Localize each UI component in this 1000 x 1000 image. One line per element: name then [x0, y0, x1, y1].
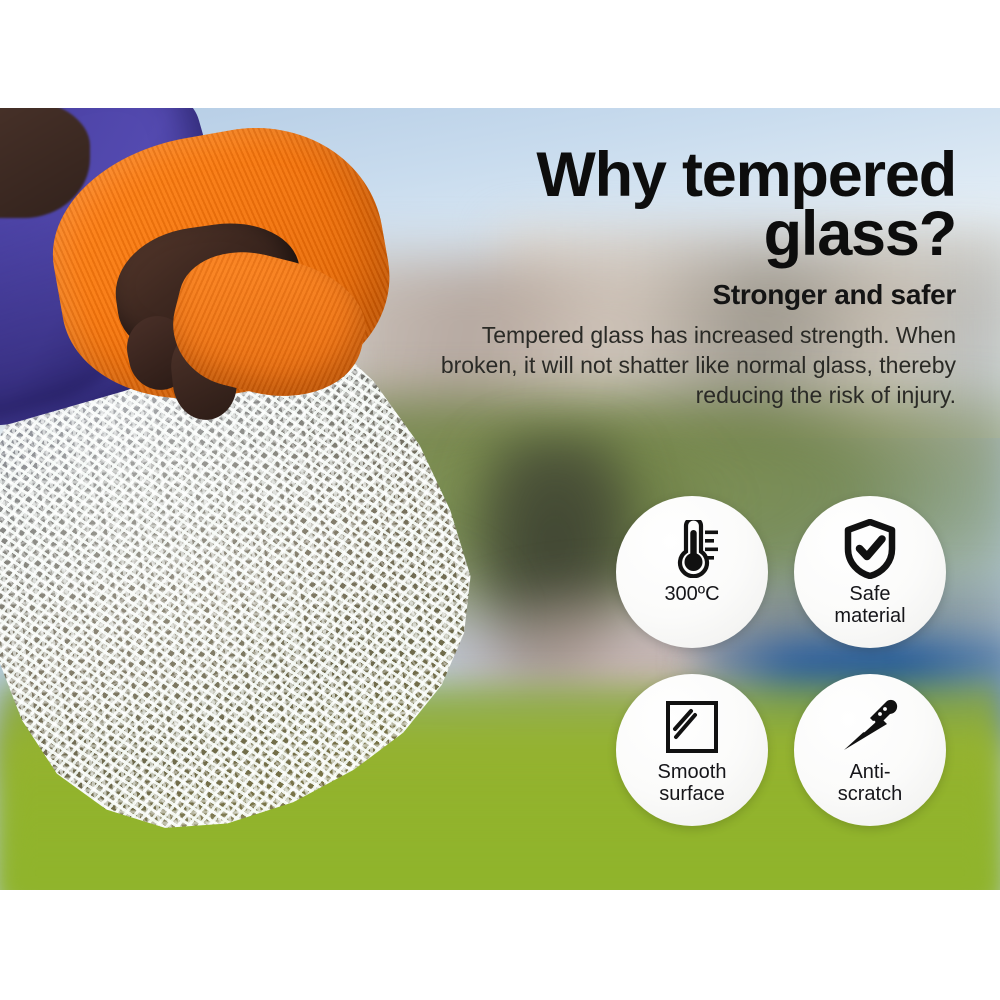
- badge-temperature-label: 300ºC: [664, 584, 719, 606]
- subheadline: Stronger and safer: [436, 279, 956, 311]
- shield-check-icon: [842, 518, 898, 580]
- headline-line-2: glass?: [764, 199, 956, 269]
- badge-anti-scratch: Anti- scratch: [794, 674, 946, 826]
- product-infographic: Why tempered glass? Stronger and safer T…: [0, 0, 1000, 1000]
- badge-safe-material-label: Safe material: [834, 584, 905, 627]
- badge-anti-scratch-label: Anti- scratch: [838, 762, 902, 805]
- badge-temperature: 300ºC: [616, 496, 768, 648]
- smooth-pane-icon: [664, 696, 720, 758]
- badge-smooth-surface-label: Smooth surface: [658, 762, 727, 805]
- badge-safe-material: Safe material: [794, 496, 946, 648]
- page-title: Why tempered glass?: [436, 146, 956, 263]
- body-paragraph: Tempered glass has increased strength. W…: [436, 321, 956, 411]
- copy-block: Why tempered glass? Stronger and safer T…: [436, 146, 956, 411]
- gloved-hand: [0, 108, 380, 438]
- knife-icon: [840, 696, 900, 758]
- thermometer-icon: [666, 518, 718, 580]
- feature-badge-group: 300ºC Safe material: [616, 496, 948, 826]
- badge-smooth-surface: Smooth surface: [616, 674, 768, 826]
